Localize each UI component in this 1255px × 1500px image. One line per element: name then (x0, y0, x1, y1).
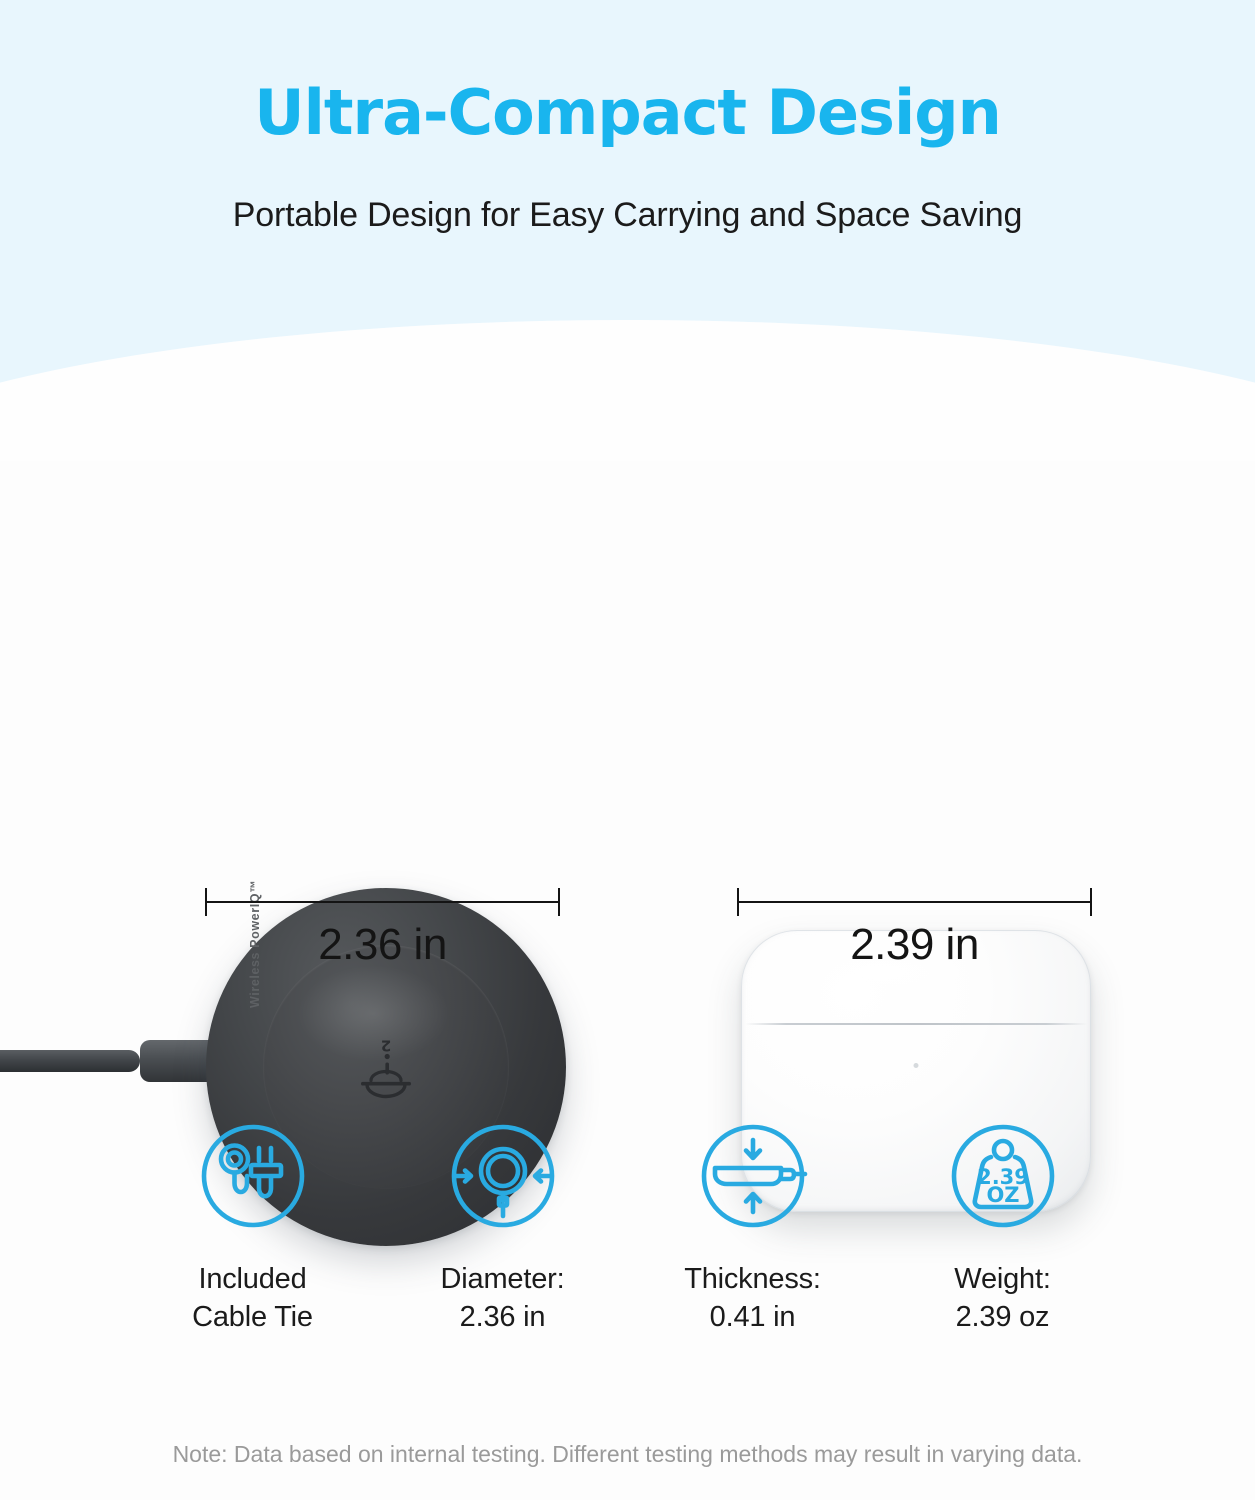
svg-text:2: 2 (381, 1039, 391, 1055)
feature-label-line2: 2.36 in (441, 1298, 565, 1336)
feature-label-line2: 0.41 in (684, 1298, 821, 1336)
dim-line (205, 901, 560, 903)
cable-tie-icon (189, 1112, 317, 1240)
weight-icon: 2.39 OZ (939, 1112, 1067, 1240)
charger-cable (0, 1050, 140, 1072)
feature-label: Included Cable Tie (192, 1260, 313, 1337)
feature-cable-tie: Included Cable Tie (128, 1112, 378, 1337)
dim-cap-right (1090, 888, 1092, 916)
page-title: Ultra-Compact Design (0, 0, 1255, 144)
qi2-logo: 2 (357, 1034, 415, 1101)
feature-label-line1: Included (198, 1263, 306, 1295)
weight-icon-unit: OZ (986, 1183, 1019, 1207)
feature-label: Weight: 2.39 oz (954, 1260, 1050, 1337)
feature-label: Diameter: 2.36 in (441, 1260, 565, 1337)
feature-label-line1: Weight: (954, 1263, 1050, 1295)
feature-label-line2: Cable Tie (192, 1298, 313, 1336)
thickness-icon (689, 1112, 817, 1240)
dim-line (737, 901, 1092, 903)
page-subtitle: Portable Design for Easy Carrying and Sp… (0, 144, 1255, 235)
footnote: Note: Data based on internal testing. Di… (0, 1438, 1255, 1471)
feature-weight: 2.39 OZ Weight: 2.39 oz (878, 1112, 1128, 1337)
feature-label-line1: Diameter: (441, 1263, 565, 1295)
feature-label: Thickness: 0.41 in (684, 1260, 821, 1337)
feature-diameter: Diameter: 2.36 in (378, 1112, 628, 1337)
diameter-icon (439, 1112, 567, 1240)
dim-cap-right (558, 888, 560, 916)
product-showcase: 2 Wireless PowerIQ™ (0, 430, 1255, 850)
header: Ultra-Compact Design Portable Design for… (0, 0, 1255, 235)
feature-label-line1: Thickness: (684, 1263, 821, 1295)
feature-list: Included Cable Tie Diameter: 2.36 in (0, 1112, 1255, 1337)
dim-label-case: 2.39 in (737, 920, 1092, 970)
feature-label-line2: 2.39 oz (954, 1298, 1050, 1336)
dim-label-charger: 2.36 in (205, 920, 560, 970)
feature-thickness: Thickness: 0.41 in (628, 1112, 878, 1337)
